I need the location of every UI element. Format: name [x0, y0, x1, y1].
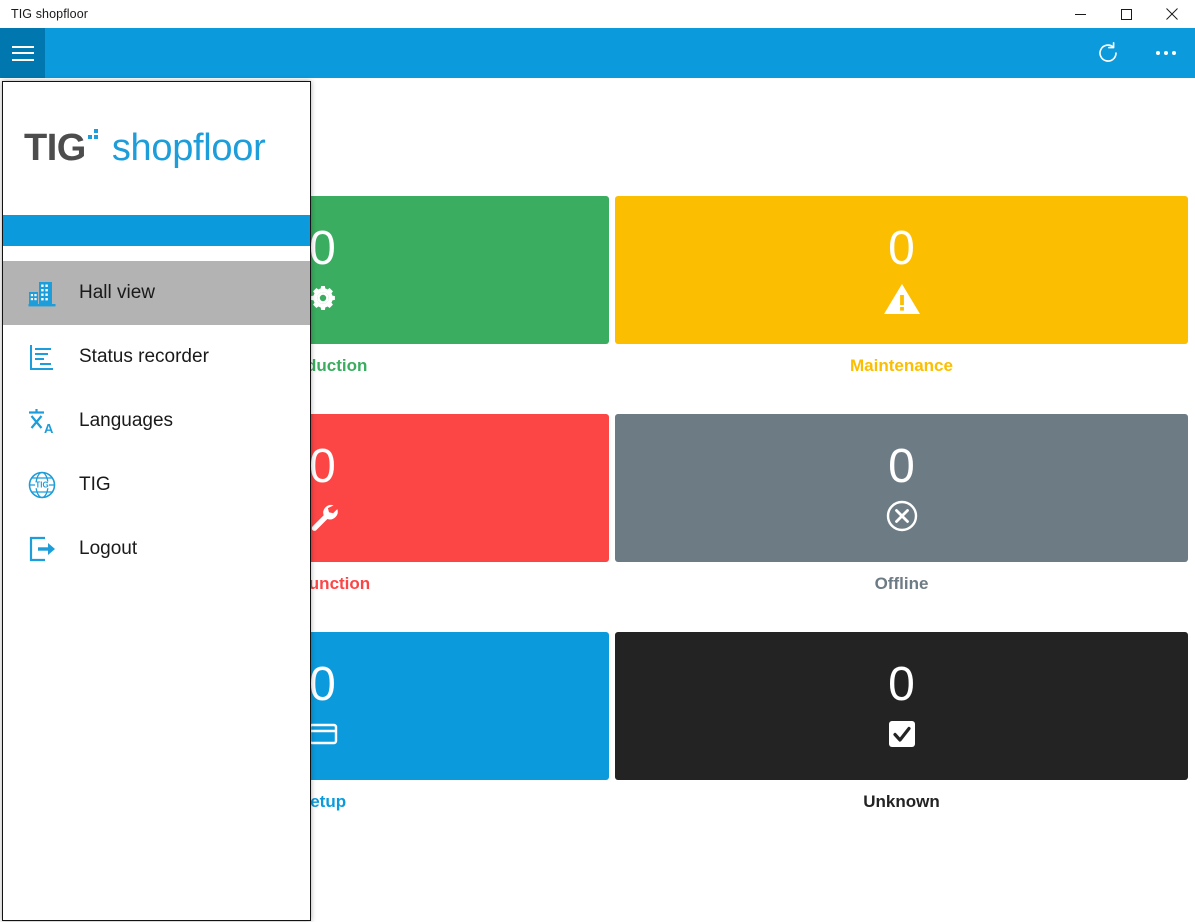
- status-tile-unknown[interactable]: 0: [615, 632, 1188, 780]
- sidebar-menu: Hall view Status recorder: [3, 261, 311, 581]
- refresh-icon: [1097, 42, 1119, 64]
- sidebar-item-label: TIG: [79, 474, 111, 496]
- svg-text:TIG: TIG: [35, 481, 48, 490]
- maximize-button[interactable]: [1103, 0, 1149, 28]
- report-icon: [25, 340, 59, 374]
- tile-cell-unknown: 0 Unknown: [615, 632, 1188, 850]
- tile-count: 0: [888, 440, 915, 494]
- warning-icon: [883, 278, 921, 318]
- tile-label: Maintenance: [615, 344, 1188, 414]
- logout-icon: [25, 532, 59, 566]
- status-tile-offline[interactable]: 0: [615, 414, 1188, 562]
- close-circle-icon: [885, 496, 919, 536]
- window-titlebar: TIG shopfloor: [0, 0, 1195, 28]
- tile-label: Offline: [615, 562, 1188, 632]
- status-tile-maintenance[interactable]: 0: [615, 196, 1188, 344]
- logo-brand-text: TIG: [24, 129, 86, 167]
- close-button[interactable]: [1149, 0, 1195, 28]
- logo-brand-label: TIG: [24, 127, 86, 169]
- sidebar-item-hall-view[interactable]: Hall view: [3, 261, 311, 325]
- window-controls: [1057, 0, 1195, 28]
- tile-count: 0: [888, 658, 915, 712]
- tile-count: 0: [309, 222, 336, 276]
- hamburger-icon: [12, 46, 34, 61]
- minimize-icon: [1075, 9, 1086, 20]
- sidebar-item-logout[interactable]: Logout: [3, 517, 311, 581]
- sidebar-item-label: Languages: [79, 410, 173, 432]
- sidebar-item-label: Status recorder: [79, 346, 209, 368]
- tile-cell-offline: 0 Offline: [615, 414, 1188, 632]
- tile-count: 0: [309, 440, 336, 494]
- sidebar-item-status-recorder[interactable]: Status recorder: [3, 325, 311, 389]
- app-logo: TIG shopfloor: [3, 82, 310, 213]
- more-options-button[interactable]: [1137, 28, 1195, 78]
- sidebar-item-label: Logout: [79, 538, 137, 560]
- close-icon: [1166, 8, 1178, 20]
- more-options-icon: [1156, 51, 1176, 55]
- logo-product-label: shopfloor: [112, 129, 266, 167]
- tile-count: 0: [888, 222, 915, 276]
- globe-tig-icon: TIG: [25, 468, 59, 502]
- sidebar-item-label: Hall view: [79, 282, 155, 304]
- navigation-sidebar: TIG shopfloor: [2, 81, 311, 921]
- svg-text:A: A: [44, 421, 54, 436]
- tile-count: 0: [309, 658, 336, 712]
- tile-cell-maintenance: 0 Maintenance: [615, 196, 1188, 414]
- logo-dots-icon: [88, 129, 99, 140]
- app-command-bar: [0, 28, 1195, 78]
- sidebar-item-tig[interactable]: TIG TIG: [3, 453, 311, 517]
- app-bar-actions: [1079, 28, 1195, 78]
- minimize-button[interactable]: [1057, 0, 1103, 28]
- app-window: TIG shopfloor: [0, 0, 1195, 922]
- translate-icon: A: [25, 404, 59, 438]
- sidebar-accent-bar: [3, 215, 311, 246]
- maximize-icon: [1121, 9, 1132, 20]
- sidebar-item-languages[interactable]: A Languages: [3, 389, 311, 453]
- tile-label: Unknown: [615, 780, 1188, 850]
- checkbox-icon: [885, 714, 919, 754]
- building-icon: [25, 276, 59, 310]
- window-title: TIG shopfloor: [11, 7, 88, 21]
- hamburger-menu-button[interactable]: [0, 28, 45, 78]
- refresh-button[interactable]: [1079, 28, 1137, 78]
